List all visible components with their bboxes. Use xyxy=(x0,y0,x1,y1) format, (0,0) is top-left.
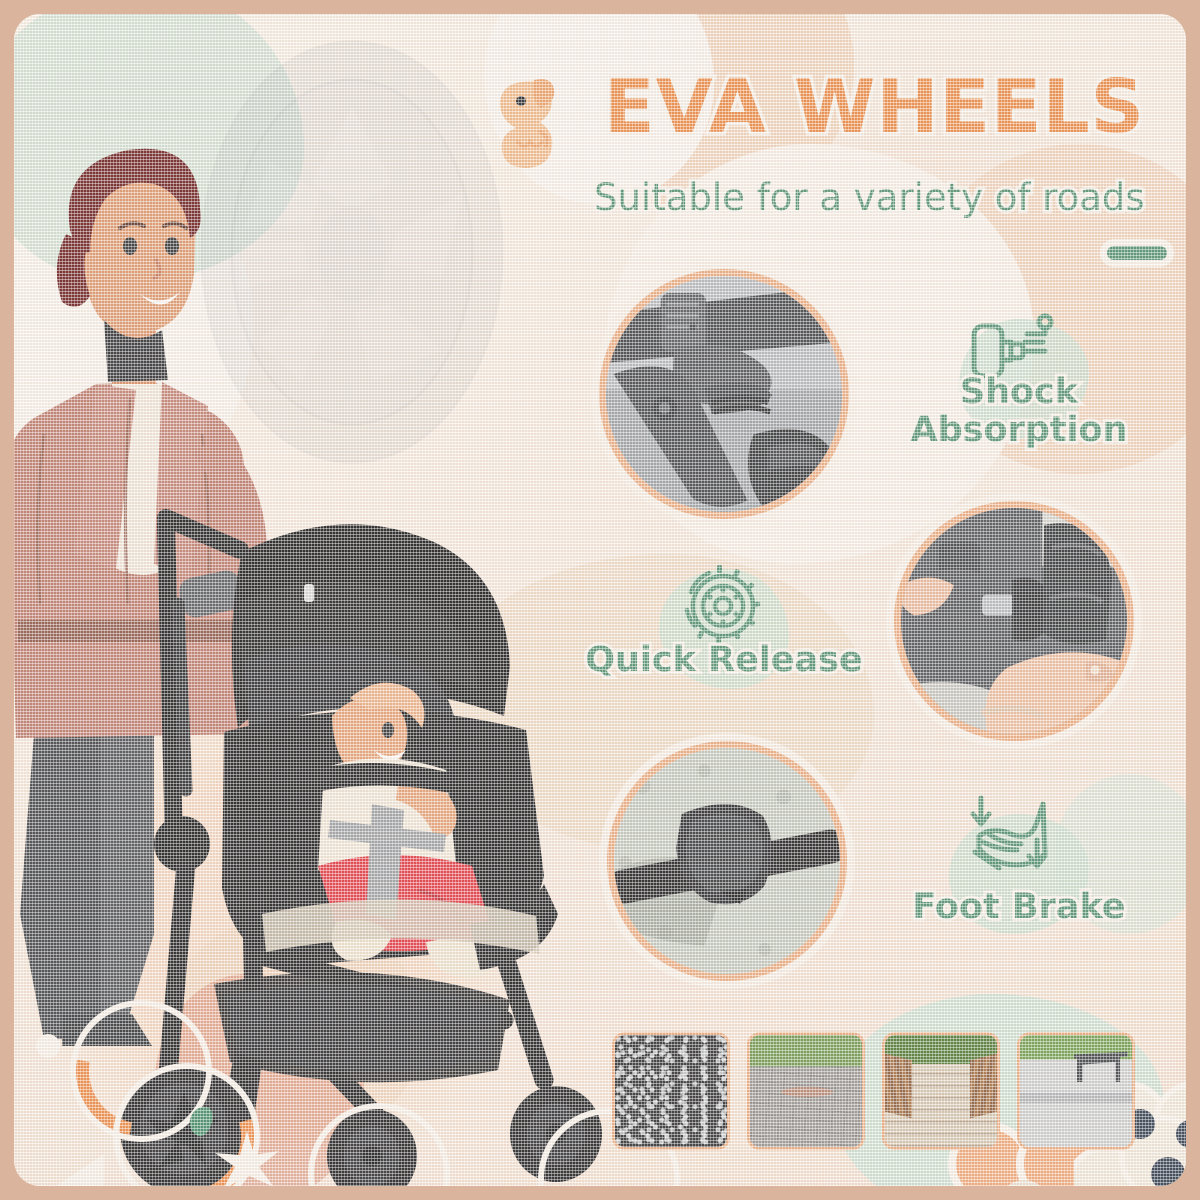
duck-icon xyxy=(494,76,564,171)
photo-quick-release xyxy=(894,501,1134,741)
road-thumbnail-wood[interactable] xyxy=(882,1032,1000,1150)
page-subtitle: Suitable for a variety of roads xyxy=(594,176,1145,219)
page-title: EVA WHEELS xyxy=(604,64,1145,150)
road-thumbnail-asphalt[interactable] xyxy=(612,1032,730,1150)
label-shock-line1: Shock xyxy=(869,374,1169,412)
green-dash-accent xyxy=(1107,246,1167,260)
photo-shock-absorption xyxy=(599,269,849,519)
photo-foot-brake xyxy=(607,741,847,981)
label-shock-line2: Absorption xyxy=(869,412,1169,450)
poster-canvas: EVA WHEELS Suitable for a variety of roa… xyxy=(14,14,1186,1186)
white-dot-doodle xyxy=(36,1034,60,1058)
road-thumbnail-strip xyxy=(612,1032,1135,1150)
white-star-doodle xyxy=(212,1129,282,1186)
road-thumbnail-concrete[interactable] xyxy=(1017,1032,1135,1150)
foot-pressing-brake-icon xyxy=(959,792,1069,887)
label-shock-absorption: Shock Absorption xyxy=(869,374,1169,450)
road-thumbnail-paved[interactable] xyxy=(747,1032,865,1150)
poster-frame: EVA WHEELS Suitable for a variety of roa… xyxy=(0,0,1200,1200)
label-foot-brake: Foot Brake xyxy=(869,889,1169,927)
wheel-tire-icon xyxy=(679,562,764,647)
label-quick-release: Quick Release xyxy=(559,642,889,680)
